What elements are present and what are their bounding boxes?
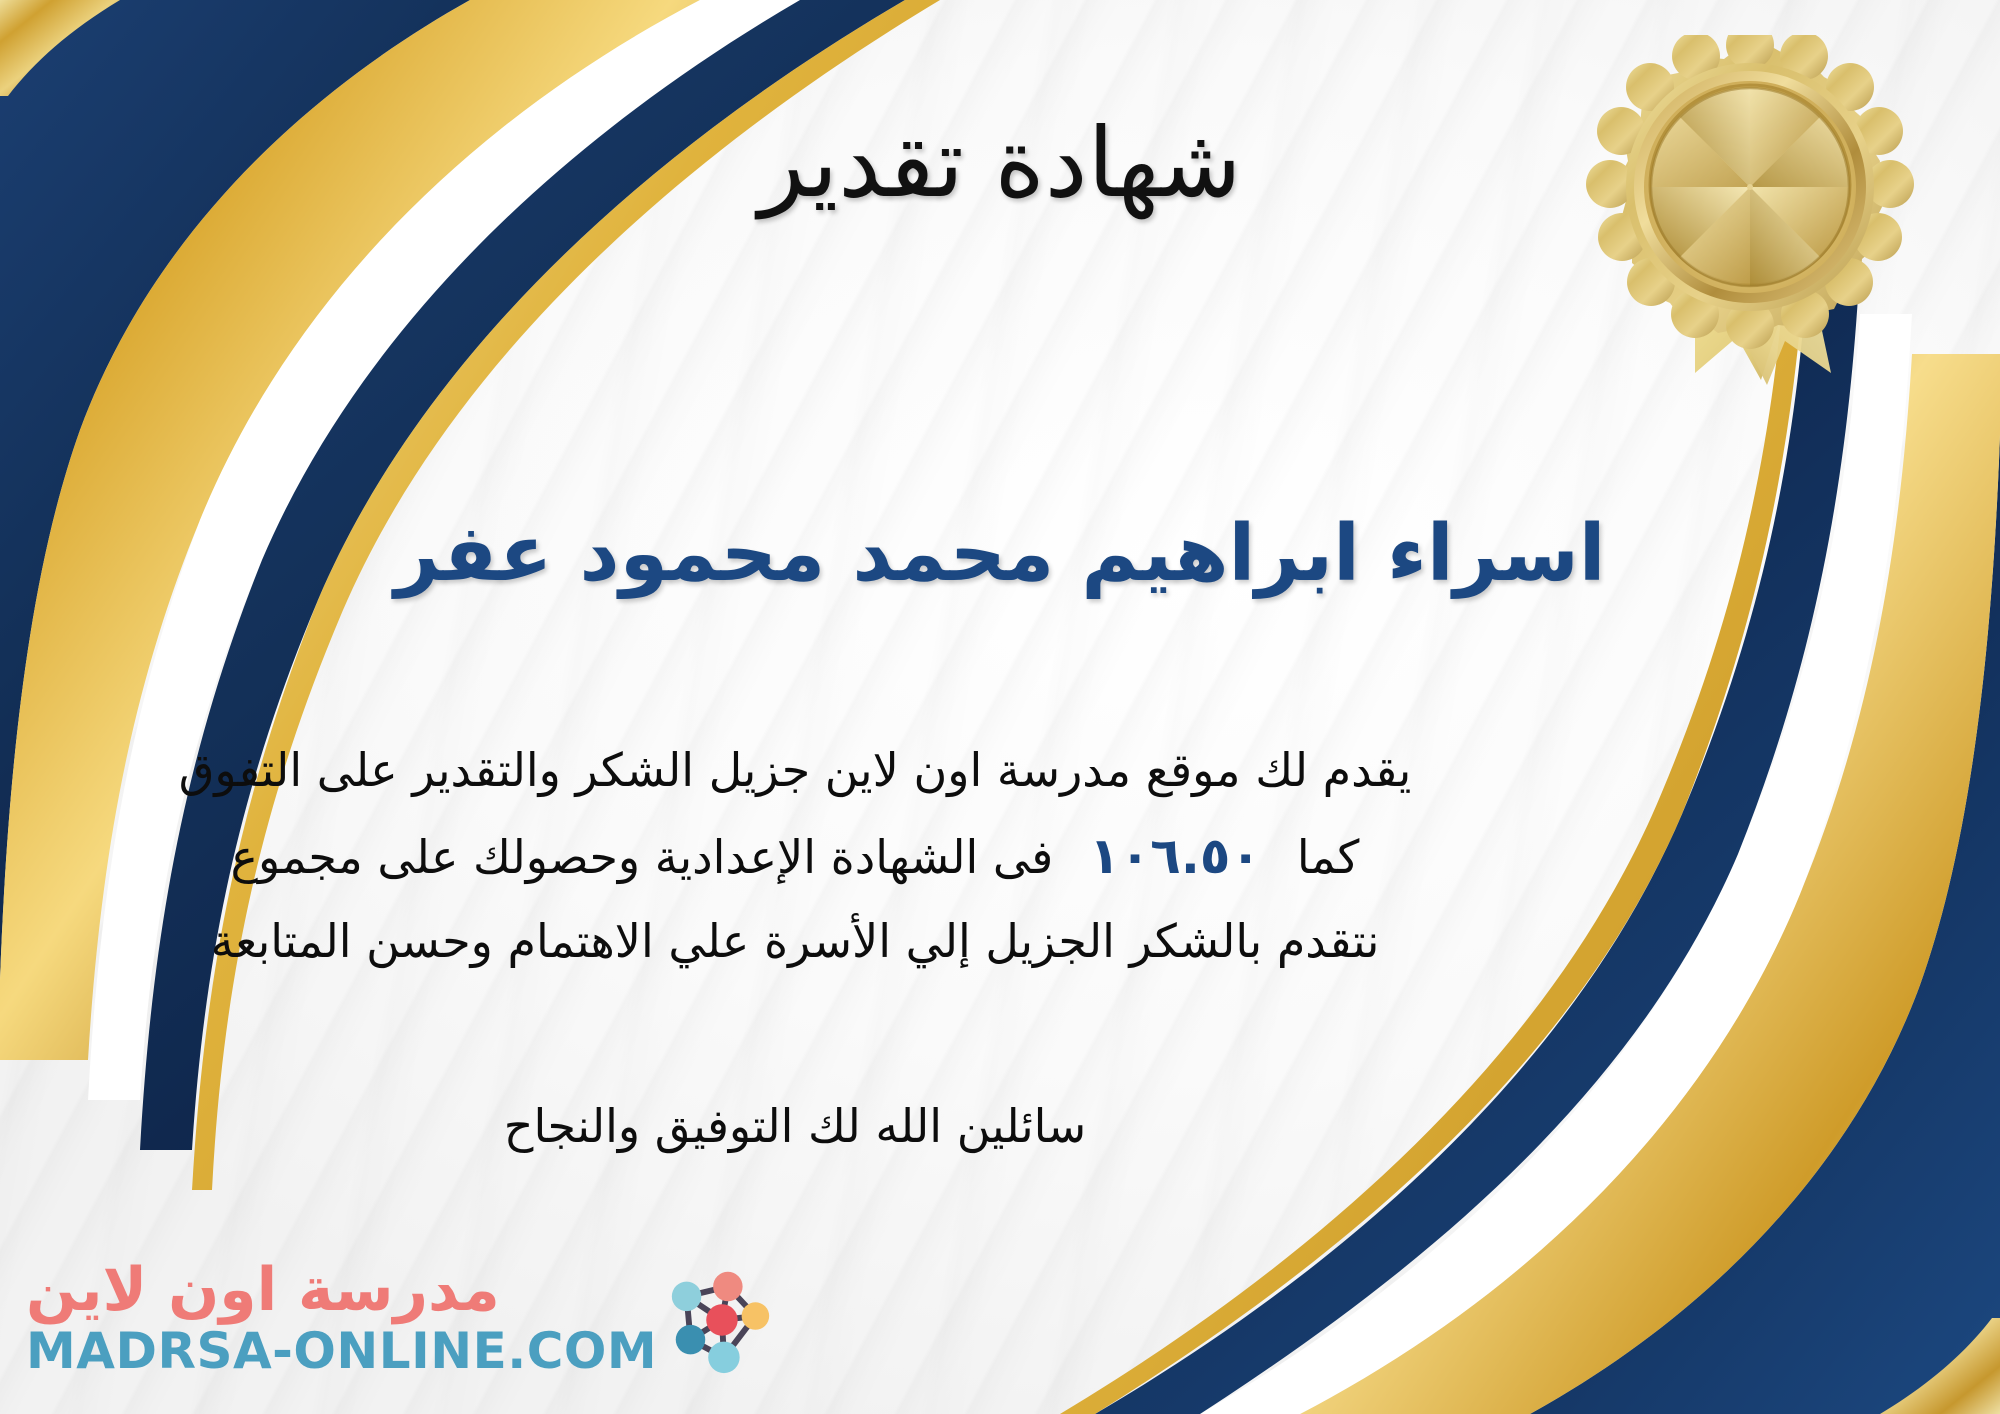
certificate-body: يقدم لك موقع مدرسة اون لاين جزيل الشكر و… xyxy=(55,730,1535,983)
logo-arabic-name: مدرسة اون لاين xyxy=(26,1260,500,1320)
body-line-1: يقدم لك موقع مدرسة اون لاين جزيل الشكر و… xyxy=(55,730,1535,812)
body-line-2-prefix: كما xyxy=(1297,830,1360,884)
body-line-2-suffix: فى الشهادة الإعدادية وحصولك على مجموع xyxy=(231,830,1054,884)
logo-website-url: MADRSA-ONLINE.COM xyxy=(26,1326,657,1376)
site-logo[interactable]: مدرسة اون لاين MADRSA-ONLINE.COM xyxy=(26,1243,546,1393)
recipient-name: اسراء ابراهيم محمد محمود عفر xyxy=(0,508,2000,602)
logo-text-group: مدرسة اون لاين MADRSA-ONLINE.COM xyxy=(26,1260,657,1376)
network-nodes-icon xyxy=(661,1259,779,1377)
body-line-3: نتقدم بالشكر الجزيل إلي الأسرة علي الاهت… xyxy=(55,901,1535,983)
page-title: شهادة تقدير xyxy=(0,108,2000,218)
closing-wish-line: سائلين الله لك التوفيق والنجاح xyxy=(55,1090,1535,1164)
certificate-canvas: شهادة تقدير اسراء ابراهيم محمد محمود عفر… xyxy=(0,0,2000,1414)
body-line-2: كما١٠٦.٥٠فى الشهادة الإعدادية وحصولك على… xyxy=(55,812,1535,901)
certificate-content: شهادة تقدير اسراء ابراهيم محمد محمود عفر… xyxy=(0,0,2000,1414)
grade-total-value: ١٠٦.٥٠ xyxy=(1053,827,1297,885)
